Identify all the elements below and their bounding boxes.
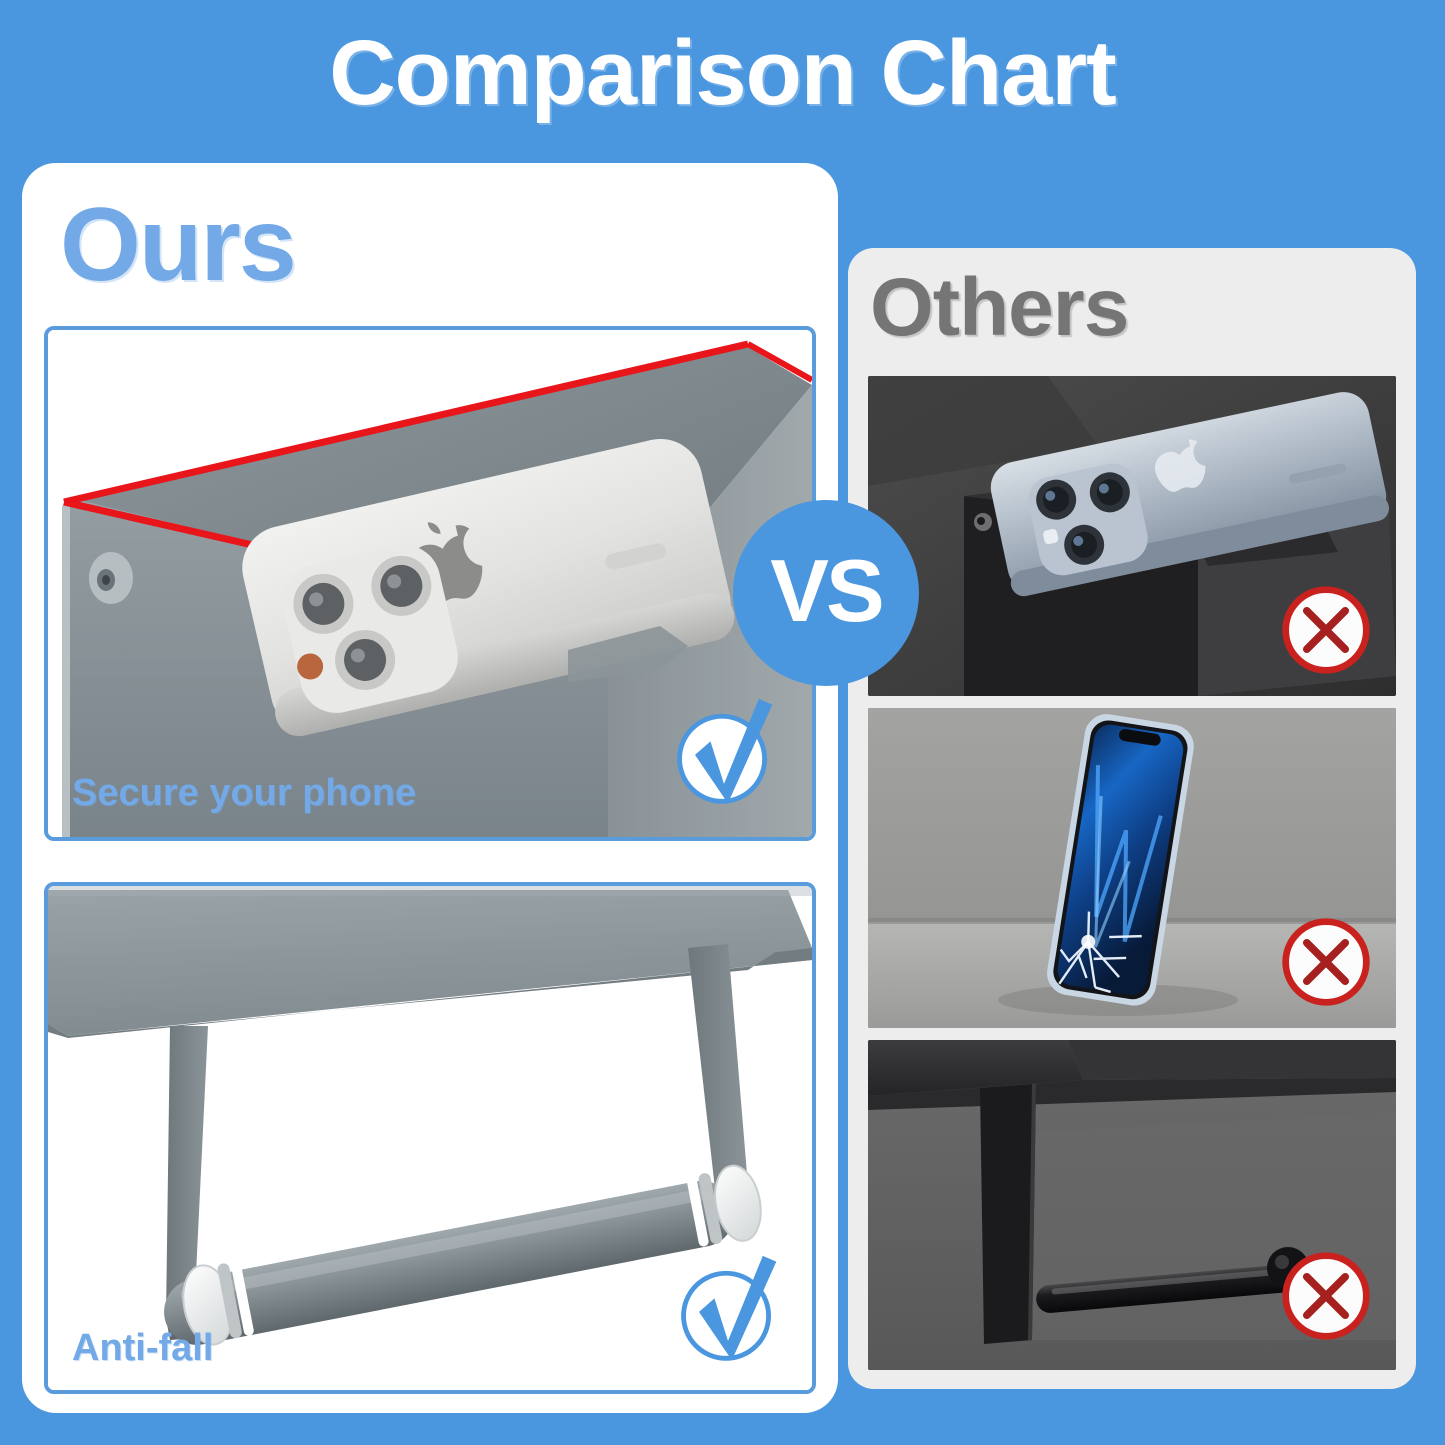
ours-label: Ours xyxy=(60,191,295,299)
check-icon xyxy=(666,695,782,811)
others-panel-phone-on-edge xyxy=(868,376,1396,696)
others-panel-plain-towel-bar xyxy=(868,1040,1396,1370)
ours-panel-2-caption: Anti-fall xyxy=(72,1327,213,1370)
ours-card: Ours xyxy=(22,163,838,1413)
check-icon xyxy=(670,1252,786,1368)
ours-panel-secure-your-phone: Secure your phone xyxy=(44,326,816,841)
cross-icon xyxy=(1278,582,1374,678)
others-label: Others xyxy=(870,262,1128,354)
others-card: Others xyxy=(848,248,1416,1389)
vs-badge: VS xyxy=(733,500,919,686)
ours-panel-1-caption: Secure your phone xyxy=(72,772,416,815)
others-panel-cracked-phone xyxy=(868,708,1396,1028)
cross-icon xyxy=(1278,1248,1374,1344)
comparison-chart-page: Comparison Chart Ours xyxy=(0,0,1445,1445)
vs-label: VS xyxy=(770,547,881,635)
page-title: Comparison Chart xyxy=(0,18,1445,128)
ours-panel-anti-fall: Anti-fall xyxy=(44,882,816,1394)
cross-icon xyxy=(1278,914,1374,1010)
